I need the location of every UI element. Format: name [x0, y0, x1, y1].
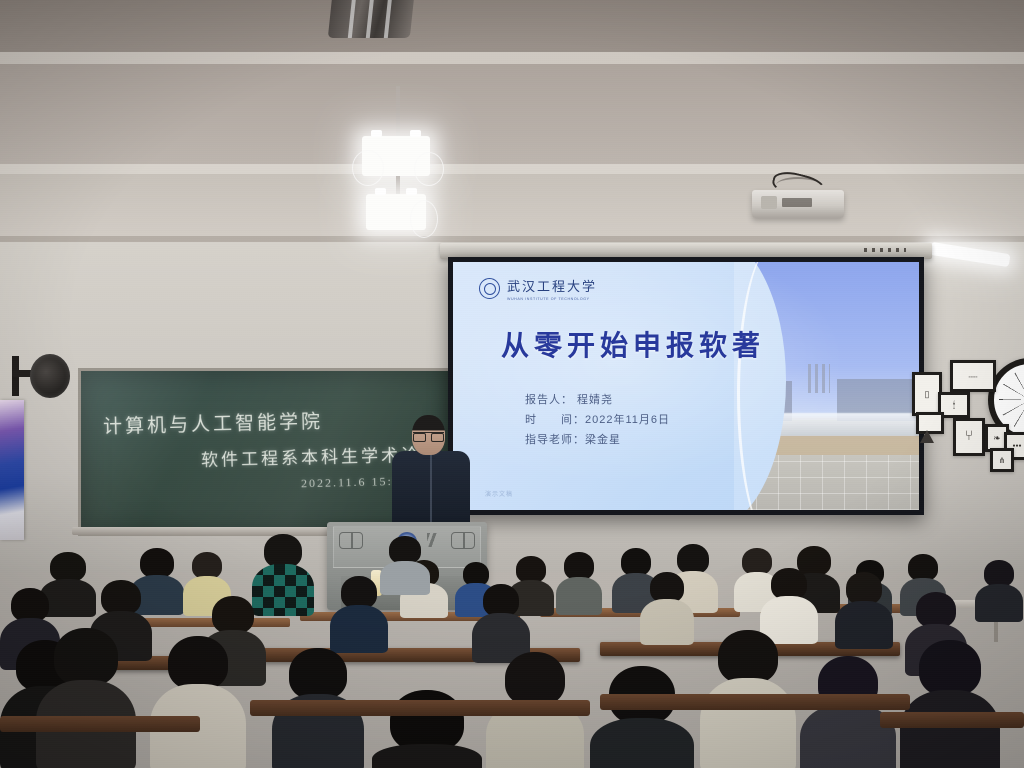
frame-art-candle: 🕯	[944, 398, 964, 412]
audience-member	[835, 572, 893, 646]
frame-art-text-card: ≡≡≡≡	[956, 366, 990, 386]
desk	[250, 700, 590, 716]
framed-picture: ≡≡≡≡	[950, 360, 996, 392]
wall-poster	[0, 400, 24, 540]
podium-logo-right-icon	[451, 532, 475, 549]
classroom-photo-scene: 计算机与人工智能学院 软件工程系本科生学术论坛 2022.11.6 15:00	[0, 0, 1024, 768]
slide-title: 从零开始申报软著	[501, 324, 765, 364]
slide-meta-block: 报告人： 程婧尧 时 间：2022年11月6日 指导老师：梁金星	[525, 390, 670, 450]
projection-screen: 武汉工程大学 WUHAN INSTITUTE OF TECHNOLOGY 从零开…	[448, 257, 924, 515]
university-seal-icon	[479, 278, 500, 299]
pendant-rod-lower	[396, 176, 400, 194]
wall-rail-upper	[0, 164, 1024, 174]
slide-university-logo: 武汉工程大学 WUHAN INSTITUTE OF TECHNOLOGY	[479, 276, 597, 301]
frame-art-portrait: ▯	[918, 378, 936, 410]
projector	[752, 190, 844, 218]
photo-tower	[808, 364, 830, 394]
projector-vent	[782, 198, 812, 207]
wall-fan-icon	[12, 352, 70, 400]
glasses-icon	[413, 432, 444, 440]
slide-meta-presenter: 报告人： 程婧尧	[525, 390, 670, 410]
slide-meta-advisor: 指导老师：梁金星	[525, 430, 670, 450]
slide-meta-date: 时 间：2022年11月6日	[525, 410, 670, 430]
frame-art-blank	[922, 418, 938, 428]
projector-lens	[761, 196, 777, 209]
audience-member	[36, 628, 136, 768]
wall-upper	[0, 64, 1024, 164]
blackboard-line-1: 计算机与人工智能学院	[103, 406, 324, 438]
audience-member	[472, 584, 530, 660]
air-duct	[328, 0, 414, 38]
podium-logo-left-icon	[339, 532, 363, 549]
frame-art-leaf: ❧	[991, 430, 1003, 446]
lamp-wire-upper-right	[414, 152, 444, 186]
podium-text-mark	[427, 533, 453, 547]
desk	[0, 716, 200, 732]
frame-art-antlers: ⑂	[959, 424, 979, 450]
audience-member	[330, 576, 388, 650]
logo-subtext: WUHAN INSTITUTE OF TECHNOLOGY	[507, 297, 597, 301]
slide-campus-photo	[734, 262, 919, 510]
audience-member	[556, 552, 602, 612]
ceiling-upper	[0, 0, 1024, 52]
housing-vent-dots	[864, 248, 906, 252]
clock-tickmarks	[999, 369, 1024, 431]
pendant-rod-upper	[396, 86, 400, 136]
wall-middle	[0, 174, 1024, 236]
audience-member	[590, 666, 694, 768]
frame-art-rabbit: ⋔	[996, 454, 1008, 466]
framed-picture: ⑂	[953, 418, 985, 456]
ceiling-trim	[0, 52, 1024, 64]
audience-member	[640, 572, 694, 642]
lamp-wire-upper	[352, 150, 384, 186]
triangle-wall-mark	[920, 430, 934, 443]
logo-wordmark: 武汉工程大学	[507, 276, 597, 295]
slide-watermark: 演示文稿	[485, 489, 513, 498]
speaker	[392, 415, 470, 533]
audience-member	[900, 640, 1000, 768]
presentation-slide: 武汉工程大学 WUHAN INSTITUTE OF TECHNOLOGY 从零开…	[453, 262, 919, 510]
audience-member	[975, 560, 1023, 618]
lamp-wire-lower	[410, 200, 438, 238]
audience-member	[150, 636, 246, 768]
desk	[600, 694, 910, 710]
framed-picture: ⋔	[990, 448, 1014, 472]
desk	[880, 712, 1024, 728]
